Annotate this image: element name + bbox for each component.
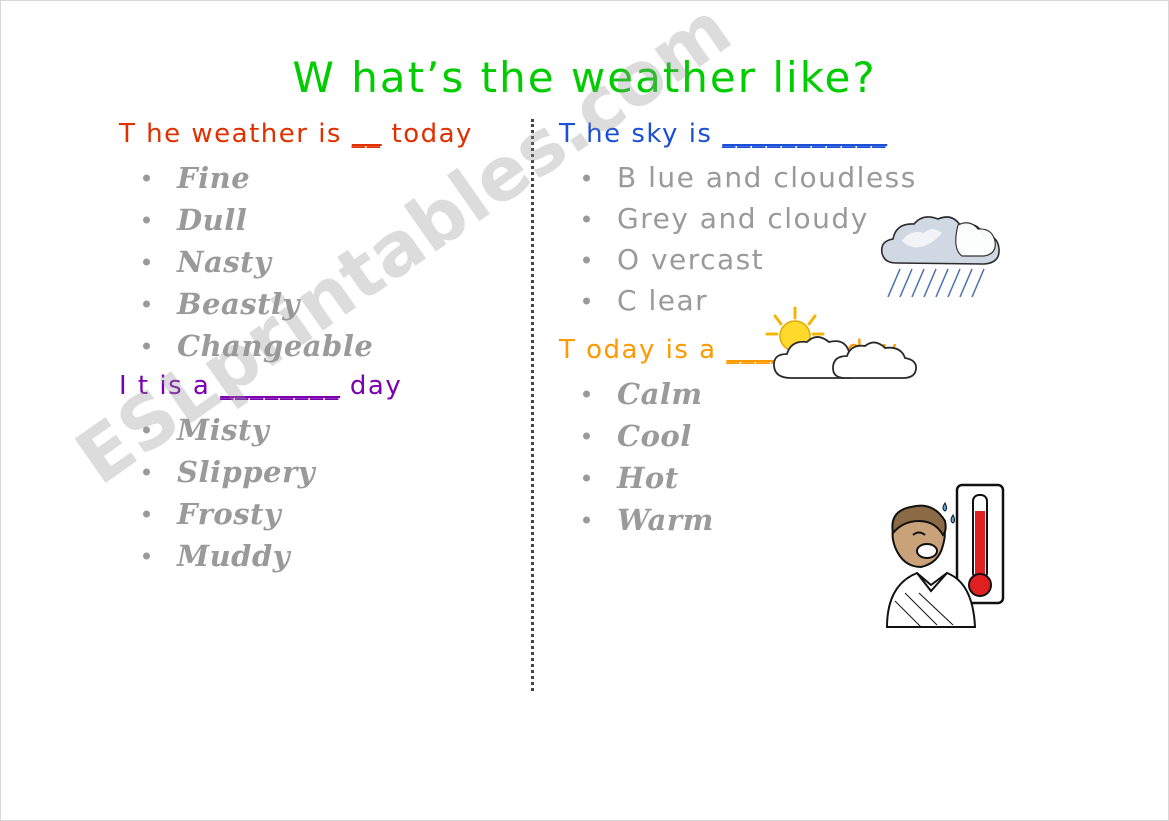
prompt-sky-prefix: T he sky is <box>559 119 722 149</box>
bullet-icon <box>143 217 150 224</box>
list-item: Slippery <box>133 455 529 489</box>
bullet-icon <box>143 343 150 350</box>
weather-word-list: Fine Dull Nasty Beastly Changeable <box>119 161 529 363</box>
prompt-day-suffix: day <box>340 371 402 401</box>
bullet-icon <box>583 256 590 263</box>
weather-block: T he weather is __ today Fine Dull Nasty… <box>119 119 529 363</box>
word-label: Frosty <box>177 497 281 531</box>
prompt-day-prefix: I t is a <box>119 371 220 401</box>
word-label: Changeable <box>177 329 373 363</box>
bullet-icon <box>143 553 150 560</box>
word-label: O vercast <box>617 243 764 276</box>
prompt-sky: T he sky is ___________ <box>559 119 1019 149</box>
prompt-today-prefix: T oday is a <box>559 335 726 365</box>
bullet-icon <box>583 517 590 524</box>
bullet-icon <box>583 391 590 398</box>
word-label: Slippery <box>177 455 315 489</box>
bullet-icon <box>583 297 590 304</box>
day-block: I t is a ________ day Misty Slippery Fro… <box>119 371 529 573</box>
word-label: C lear <box>617 284 708 317</box>
bullet-icon <box>143 427 150 434</box>
list-item: Fine <box>133 161 529 195</box>
bullet-icon <box>143 469 150 476</box>
bullet-icon <box>143 259 150 266</box>
prompt-weather-prefix: T he weather is <box>119 119 352 149</box>
word-label: Fine <box>177 161 250 195</box>
bullet-icon <box>143 301 150 308</box>
word-label: Beastly <box>177 287 300 321</box>
column-divider <box>531 119 534 691</box>
word-label: Calm <box>617 377 703 411</box>
prompt-weather: T he weather is __ today <box>119 119 529 149</box>
prompt-weather-blank: __ <box>352 119 382 149</box>
rain-cloud-clipart <box>866 211 1016 321</box>
prompt-weather-suffix: today <box>382 119 473 149</box>
bullet-icon <box>583 475 590 482</box>
word-label: Hot <box>617 461 679 495</box>
list-item: Nasty <box>133 245 529 279</box>
word-label: Warm <box>617 503 714 537</box>
prompt-sky-blank: ___________ <box>722 119 887 149</box>
left-column: T he weather is __ today Fine Dull Nasty… <box>119 119 529 581</box>
sun-behind-clouds-clipart <box>761 306 926 391</box>
list-item: Misty <box>133 413 529 447</box>
bullet-icon <box>143 175 150 182</box>
bullet-icon <box>583 215 590 222</box>
word-label: Muddy <box>177 539 290 573</box>
page-title: W hat’s the weather like? <box>1 53 1168 102</box>
prompt-day: I t is a ________ day <box>119 371 529 401</box>
word-label: Cool <box>617 419 692 453</box>
list-item: Cool <box>573 419 1019 453</box>
hot-weather-thermometer-clipart <box>861 481 1021 631</box>
word-label: Nasty <box>177 245 271 279</box>
prompt-day-blank: ________ <box>220 371 340 401</box>
day-word-list: Misty Slippery Frosty Muddy <box>119 413 529 573</box>
bullet-icon <box>583 174 590 181</box>
list-item: Dull <box>133 203 529 237</box>
word-label: Misty <box>177 413 269 447</box>
bullet-icon <box>583 433 590 440</box>
list-item: Beastly <box>133 287 529 321</box>
list-item: Changeable <box>133 329 529 363</box>
list-item: Frosty <box>133 497 529 531</box>
bullet-icon <box>143 511 150 518</box>
worksheet-page: W hat’s the weather like? T he weather i… <box>0 0 1169 821</box>
word-label: Grey and cloudy <box>617 202 869 235</box>
list-item: Muddy <box>133 539 529 573</box>
list-item: B lue and cloudless <box>573 161 1019 194</box>
word-label: B lue and cloudless <box>617 161 917 194</box>
word-label: Dull <box>177 203 247 237</box>
